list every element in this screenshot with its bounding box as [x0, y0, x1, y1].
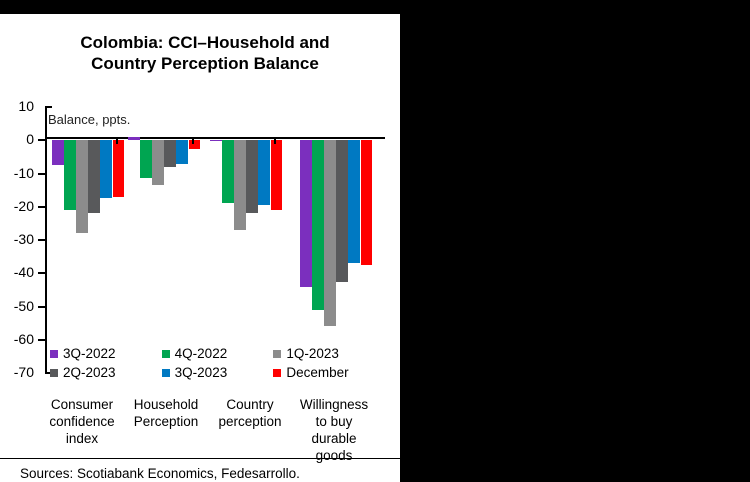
y-axis-tick-label: -20: [0, 198, 34, 214]
bar: [64, 140, 76, 210]
legend-item-3q-2023: 3Q-2023: [162, 365, 274, 380]
legend-row-2: 2Q-2023 3Q-2023 December: [50, 365, 385, 380]
bar: [361, 140, 373, 265]
x-axis-category-line: Perception: [124, 413, 208, 430]
bar: [52, 140, 64, 165]
bar: [76, 140, 88, 233]
x-axis-category-line: to buy: [292, 413, 376, 430]
x-axis-category-line: Consumer: [40, 396, 124, 413]
bar: [152, 140, 164, 185]
legend-label: 3Q-2023: [175, 365, 228, 380]
legend-item-4q-2022: 4Q-2022: [162, 346, 274, 361]
y-axis-tick-label: -70: [0, 364, 34, 380]
legend-swatch-icon: [273, 369, 281, 377]
bar: [336, 140, 348, 281]
y-axis-top-cap: [45, 106, 52, 108]
bar: [234, 140, 246, 230]
y-axis-tick-label: 10: [0, 98, 34, 114]
y-axis-tick-label: -50: [0, 298, 34, 314]
chart-title-line-1: Colombia: CCI–Household and: [30, 32, 380, 53]
bar: [348, 140, 360, 263]
y-axis-tick: [38, 239, 46, 241]
x-axis-category-line: Willingness: [292, 396, 376, 413]
screenshot-frame: Colombia: CCI–Household and Country Perc…: [0, 0, 750, 482]
footer-divider: [0, 458, 400, 459]
chart-card: Colombia: CCI–Household and Country Perc…: [0, 14, 400, 482]
y-axis-tick: [38, 272, 46, 274]
legend-row-1: 3Q-2022 4Q-2022 1Q-2023: [50, 346, 385, 361]
source-note: Sources: Scotiabank Economics, Fedesarro…: [20, 466, 300, 481]
legend-label: December: [286, 365, 348, 380]
x-axis-category-line: Household: [124, 396, 208, 413]
legend-label: 3Q-2022: [63, 346, 116, 361]
bar: [222, 140, 234, 203]
bar: [140, 140, 152, 178]
bar: [88, 140, 100, 213]
y-axis-tick-label: 0: [0, 131, 34, 147]
legend-item-3q-2022: 3Q-2022: [50, 346, 162, 361]
legend-swatch-icon: [50, 369, 58, 377]
x-axis-category-label: HouseholdPerception: [124, 396, 208, 464]
legend-swatch-icon: [273, 350, 281, 358]
legend-swatch-icon: [50, 350, 58, 358]
x-axis-group-tick: [274, 138, 276, 144]
legend-label: 1Q-2023: [286, 346, 339, 361]
x-axis-category-line: Country: [208, 396, 292, 413]
y-axis-tick: [38, 306, 46, 308]
chart-legend: 3Q-2022 4Q-2022 1Q-2023 2Q-2023: [50, 346, 385, 380]
y-axis-tick-label: -30: [0, 231, 34, 247]
legend-swatch-icon: [162, 369, 170, 377]
bar: [300, 140, 312, 286]
chart-title-line-2: Country Perception Balance: [30, 53, 380, 74]
y-axis-tick-label: -10: [0, 165, 34, 181]
x-axis-category-label: Willingnessto buydurablegoods: [292, 396, 376, 464]
bar: [210, 140, 222, 141]
y-axis-tick: [38, 206, 46, 208]
x-axis-category-line: confidence: [40, 413, 124, 430]
y-axis-tick-label: -40: [0, 264, 34, 280]
bar: [164, 140, 176, 167]
bar: [176, 140, 188, 163]
legend-item-december: December: [273, 365, 385, 380]
legend-item-1q-2023: 1Q-2023: [273, 346, 385, 361]
legend-item-2q-2023: 2Q-2023: [50, 365, 162, 380]
y-axis-tick: [38, 173, 46, 175]
x-axis-category-label: Countryperception: [208, 396, 292, 464]
x-axis-category-line: goods: [292, 447, 376, 464]
x-axis-labels: ConsumerconfidenceindexHouseholdPercepti…: [40, 396, 390, 464]
y-axis-tick-label: -60: [0, 331, 34, 347]
chart-title: Colombia: CCI–Household and Country Perc…: [30, 32, 380, 74]
x-axis-group-tick: [192, 138, 194, 144]
legend-swatch-icon: [162, 350, 170, 358]
x-axis-group-tick: [116, 138, 118, 144]
bar: [246, 140, 258, 213]
x-axis-category-line: durable: [292, 430, 376, 447]
bar: [113, 140, 125, 197]
bar: [312, 140, 324, 310]
y-axis-tick: [38, 339, 46, 341]
bar: [128, 137, 140, 140]
bar: [100, 140, 112, 198]
bar: [271, 140, 283, 210]
legend-label: 4Q-2022: [175, 346, 228, 361]
x-axis-category-line: perception: [208, 413, 292, 430]
legend-label: 2Q-2023: [63, 365, 116, 380]
bar: [324, 140, 336, 326]
bar: [258, 140, 270, 205]
x-axis-category-label: Consumerconfidenceindex: [40, 396, 124, 464]
y-axis-tick: [38, 139, 46, 141]
x-axis-category-line: index: [40, 430, 124, 447]
